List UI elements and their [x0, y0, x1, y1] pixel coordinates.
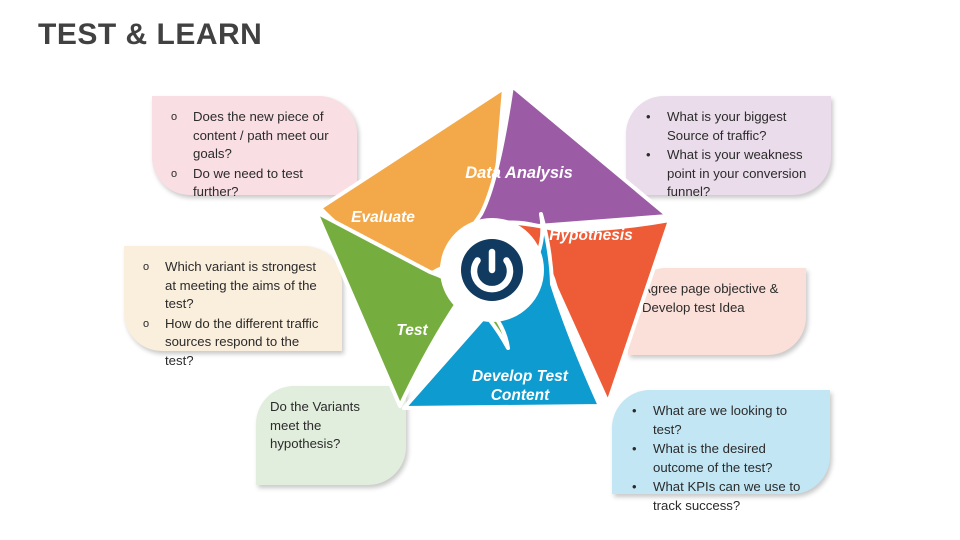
list-item: o Which variant is strongest at meeting … — [138, 258, 328, 314]
list-item: o How do the different traffic sources r… — [138, 315, 328, 371]
callout-kpi-list: • What are we looking to test? • What is… — [626, 402, 816, 515]
wheel-segment-develop-test-content[interactable] — [404, 214, 600, 408]
callout-evaluate: o Does the new piece of content / path m… — [152, 96, 357, 195]
list-item-text: What are we looking to test? — [653, 403, 787, 437]
list-item: • What is your biggest Source of traffic… — [640, 108, 817, 145]
dot-bullet-icon: • — [632, 402, 637, 421]
list-item-text: What is the desired outcome of the test? — [653, 441, 773, 475]
list-item-text: What is your weakness point in your conv… — [667, 147, 806, 199]
page-title: TEST & LEARN — [38, 18, 262, 52]
wheel-label-data-analysis: Data Analysis — [465, 164, 573, 182]
list-item-text: Do we need to test further? — [193, 166, 303, 200]
callout-agree: Agree page objective & Develop test Idea — [628, 268, 806, 355]
wheel-label-test: Test — [396, 322, 428, 339]
callout-variants-text: Do the Variants meet the hypothesis? — [270, 398, 392, 454]
wheel-label-develop-test-content-line2: Content — [491, 387, 550, 404]
callout-hypothesis: • What is your biggest Source of traffic… — [626, 96, 831, 195]
wheel-center-disc — [440, 218, 544, 322]
wheel-segment-test[interactable] — [316, 212, 508, 406]
callout-test-list: o Which variant is strongest at meeting … — [138, 258, 328, 370]
list-item-text: What KPIs can we use to track success? — [653, 479, 800, 513]
wheel-label-develop-test-content-line1: Develop Test — [472, 368, 569, 385]
hollow-bullet-icon: o — [143, 315, 149, 334]
dot-bullet-icon: • — [646, 146, 651, 165]
callout-kpi: • What are we looking to test? • What is… — [612, 390, 830, 494]
power-icon-background[interactable] — [461, 239, 523, 301]
list-item-text: Does the new piece of content / path mee… — [193, 109, 329, 161]
dot-bullet-icon: • — [632, 478, 637, 497]
list-item: • What are we looking to test? — [626, 402, 816, 439]
power-icon[interactable] — [474, 261, 510, 290]
list-item-text: Which variant is strongest at meeting th… — [165, 259, 317, 311]
callout-hypothesis-list: • What is your biggest Source of traffic… — [640, 108, 817, 202]
list-item-text: How do the different traffic sources res… — [165, 316, 318, 368]
callout-test: o Which variant is strongest at meeting … — [124, 246, 342, 351]
wheel-label-hypothesis: Hypothesis — [549, 227, 633, 244]
list-item: o Does the new piece of content / path m… — [166, 108, 343, 164]
wheel-label-evaluate: Evaluate — [351, 209, 415, 226]
dot-bullet-icon: • — [632, 440, 637, 459]
callout-variants: Do the Variants meet the hypothesis? — [256, 386, 406, 485]
hollow-bullet-icon: o — [171, 108, 177, 127]
hollow-bullet-icon: o — [143, 258, 149, 277]
callout-evaluate-list: o Does the new piece of content / path m… — [166, 108, 343, 202]
list-item: • What KPIs can we use to track success? — [626, 478, 816, 515]
list-item-text: What is your biggest Source of traffic? — [667, 109, 786, 143]
hollow-bullet-icon: o — [171, 165, 177, 184]
list-item: • What is your weakness point in your co… — [640, 146, 817, 202]
dot-bullet-icon: • — [646, 108, 651, 127]
callout-agree-text: Agree page objective & Develop test Idea — [642, 280, 792, 317]
list-item: o Do we need to test further? — [166, 165, 343, 202]
list-item: • What is the desired outcome of the tes… — [626, 440, 816, 477]
